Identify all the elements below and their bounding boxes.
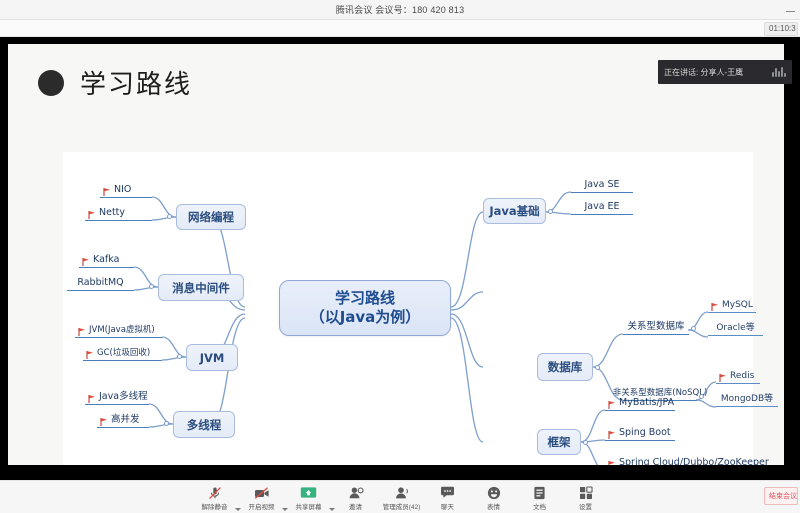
bullet-dot-icon: [38, 70, 64, 96]
node-database: 数据库: [537, 353, 593, 381]
node-framework: 框架: [537, 429, 581, 455]
toolbar-label: 聊天: [441, 501, 454, 511]
active-speaker-banner: 正在讲话: 分享人-王鹰: [658, 60, 792, 84]
connector-dot: [177, 354, 182, 359]
node-label: GC(垃圾回收): [97, 346, 150, 358]
toolbar-chat-button[interactable]: 聊天: [425, 483, 471, 511]
flag-icon: [100, 418, 108, 426]
node-nio: NIO: [100, 184, 152, 198]
flag-icon: [711, 303, 719, 311]
slide-title: 学习路线: [80, 64, 192, 101]
toolbar-items: 解除静音 开启视频: [192, 483, 609, 511]
node-gc: GC(垃圾回收): [83, 347, 162, 361]
node-java-multithread: Java多线程: [85, 391, 149, 405]
node-label: RabbitMQ: [77, 277, 123, 288]
toolbar-label: 共享屏幕: [296, 501, 322, 511]
chat-bubble-icon: [440, 485, 455, 500]
node-label: Kafka: [93, 254, 119, 265]
share-screen-icon: [300, 485, 317, 500]
tencent-meeting-window: 腾讯会议 会议号：180 420 813 01:10:3 学习路线: [0, 0, 800, 513]
flag-icon: [78, 328, 86, 336]
mindmap-panel: 学习路线 （以Java为例） Java基础 数据库 框架 前端: [63, 152, 753, 465]
toolbar-label: 设置: [579, 501, 592, 511]
toolbar-start-video-button[interactable]: 开启视频: [239, 483, 285, 511]
meeting-toolbar: 解除静音 开启视频: [0, 480, 800, 513]
flag-icon: [82, 258, 90, 266]
leave-meeting-button[interactable]: 结束会议: [764, 487, 798, 505]
node-network-programming: 网络编程: [176, 204, 246, 230]
node-java-ee: Java EE: [571, 200, 633, 215]
connector-dot: [595, 365, 600, 370]
node-spring-cloud: Spring Cloud/Dubbo/ZooKeeper: [605, 457, 757, 465]
node-label: 数据库: [548, 359, 583, 375]
node-label: Java EE: [584, 201, 619, 212]
audio-wave-icon: [772, 67, 786, 77]
emoji-icon: [487, 485, 501, 500]
connector-dot: [167, 214, 172, 219]
toolbar-label: 邀请: [349, 501, 362, 511]
toolbar-label: 文档: [533, 501, 546, 511]
node-label: Sping Boot: [619, 427, 671, 438]
connector-dot: [164, 421, 169, 426]
toolbar-invite-button[interactable]: 邀请: [333, 483, 379, 511]
node-mysql: MySQL: [708, 299, 756, 313]
settings-grid-icon: [579, 485, 593, 500]
flag-icon: [88, 395, 96, 403]
node-relational-db: 关系型数据库: [623, 320, 689, 335]
node-jvm-detail: JVM(Java虚拟机): [75, 324, 162, 338]
node-redis: Redis: [716, 370, 760, 384]
camera-off-icon: [254, 485, 270, 500]
node-spring-boot: Sping Boot: [605, 427, 675, 441]
node-jvm: JVM: [186, 344, 238, 371]
mindmap-center-node: 学习路线 （以Java为例）: [279, 280, 451, 336]
microphone-muted-icon: [208, 485, 222, 500]
toolbar-document-button[interactable]: 文档: [517, 483, 563, 511]
toolbar-settings-button[interactable]: 设置: [563, 483, 609, 511]
node-mybatis-jpa: MyBatis/JPA: [605, 397, 675, 411]
toolbar-label: 解除静音: [202, 501, 228, 511]
node-netty: Netty: [85, 207, 152, 221]
flag-icon: [88, 211, 96, 219]
node-label: JVM: [200, 351, 225, 365]
node-label: 高并发: [111, 411, 140, 425]
node-oracle: Oracle等: [708, 322, 763, 336]
minimize-icon[interactable]: [785, 5, 796, 16]
shared-slide: 学习路线: [8, 44, 784, 465]
node-label: Oracle等: [716, 320, 754, 333]
slide-header: 学习路线: [38, 64, 192, 101]
node-label: 消息中间件: [172, 280, 230, 296]
node-label: Java基础: [489, 203, 539, 219]
connector-dot: [149, 284, 154, 289]
flag-icon: [608, 401, 616, 409]
center-line1: 学习路线: [335, 289, 395, 308]
flag-icon: [103, 188, 111, 196]
node-label: Redis: [730, 371, 754, 381]
node-label: 框架: [548, 434, 571, 450]
node-label: 网络编程: [188, 209, 234, 225]
node-message-middleware: 消息中间件: [158, 274, 244, 301]
connector-dot: [691, 326, 696, 331]
toolbar-label: 表情: [487, 501, 500, 511]
flag-icon: [608, 431, 616, 439]
toolbar-label: 开启视频: [249, 501, 275, 511]
active-speaker-text: 正在讲话: 分享人-王鹰: [664, 67, 743, 78]
node-label: NIO: [114, 184, 131, 195]
invite-person-icon: [348, 485, 364, 500]
node-label: JVM(Java虚拟机): [89, 323, 155, 335]
node-kafka: Kafka: [79, 254, 134, 268]
node-java-basics: Java基础: [483, 198, 546, 224]
toolbar-manage-members-button[interactable]: 管理成员(42): [379, 483, 425, 511]
flag-icon: [719, 374, 727, 382]
node-java-se: Java SE: [571, 178, 633, 193]
toolbar-label: 管理成员(42): [383, 501, 421, 511]
meeting-timer: 01:10:3: [764, 22, 798, 36]
connector-dot: [583, 440, 588, 445]
window-titlebar: 腾讯会议 会议号：180 420 813: [0, 0, 800, 20]
toolbar-unmute-button[interactable]: 解除静音: [192, 483, 238, 511]
meeting-subbar: 01:10:3: [0, 20, 800, 37]
flag-icon: [86, 351, 94, 359]
connector-dot: [699, 394, 704, 399]
node-label: MySQL: [722, 300, 753, 310]
video-stage: 学习路线: [0, 37, 800, 480]
connector-dot: [548, 209, 553, 214]
node-label: Spring Cloud/Dubbo/ZooKeeper: [619, 457, 769, 465]
toolbar-emoji-button[interactable]: 表情: [471, 483, 517, 511]
node-label: Netty: [99, 207, 125, 218]
node-label: Java SE: [584, 179, 619, 190]
window-controls: [785, 0, 796, 20]
flag-icon: [608, 461, 616, 465]
document-icon: [533, 485, 546, 500]
node-label: 多线程: [187, 417, 222, 433]
node-label: 关系型数据库: [627, 318, 684, 332]
manage-members-icon: [394, 485, 410, 500]
node-label: MyBatis/JPA: [619, 397, 674, 408]
center-line2: （以Java为例）: [310, 308, 421, 327]
window-title: 腾讯会议 会议号：180 420 813: [336, 3, 465, 16]
node-high-concurrency: 高并发: [97, 414, 149, 428]
node-label: Java多线程: [99, 388, 148, 402]
node-label: MongoDB等: [721, 391, 773, 404]
node-mongodb: MongoDB等: [716, 393, 778, 407]
toolbar-share-screen-button[interactable]: 共享屏幕: [286, 483, 332, 511]
node-rabbitmq: RabbitMQ: [67, 277, 134, 291]
node-multithreading: 多线程: [173, 411, 235, 438]
